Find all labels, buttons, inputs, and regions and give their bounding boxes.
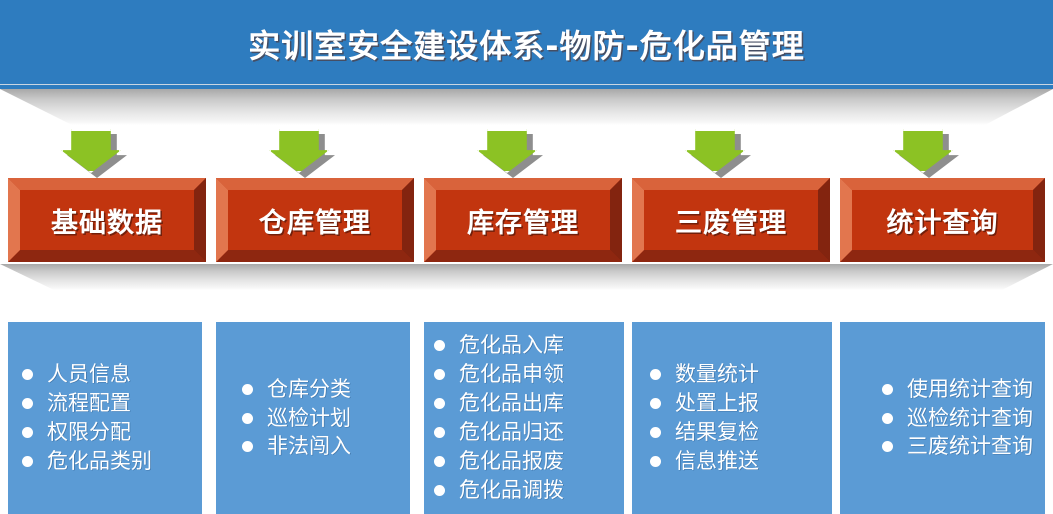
list-item-label: 危化品报废	[459, 447, 564, 476]
feature-list: 人员信息流程配置权限分配危化品类别	[8, 360, 202, 476]
feature-list: 仓库分类巡检计划非法闯入	[216, 375, 410, 462]
list-item[interactable]: 处置上报	[650, 389, 832, 418]
bullet-dot-icon	[434, 340, 445, 351]
feature-panel-4: 数量统计处置上报结果复检信息推送	[632, 322, 832, 514]
down-arrow-icon	[893, 129, 959, 177]
list-item[interactable]: 危化品出库	[434, 389, 624, 418]
list-item[interactable]: 人员信息	[22, 360, 202, 389]
list-item[interactable]: 三废统计查询	[882, 432, 1045, 461]
list-item[interactable]: 危化品归还	[434, 418, 624, 447]
module-box-label: 基础数据	[8, 178, 206, 262]
list-item-label: 危化品申领	[459, 360, 564, 389]
list-item[interactable]: 巡检计划	[242, 404, 410, 433]
page-title: 实训室安全建设体系-物防-危化品管理	[0, 0, 1053, 88]
bullet-dot-icon	[650, 398, 661, 409]
list-item-label: 危化品归还	[459, 418, 564, 447]
bullet-dot-icon	[650, 456, 661, 467]
list-item-label: 危化品类别	[47, 447, 152, 476]
feature-list: 危化品入库危化品申领危化品出库危化品归还危化品报废危化品调拨	[424, 331, 624, 505]
list-item[interactable]: 巡检统计查询	[882, 404, 1045, 433]
list-item-label: 仓库分类	[267, 375, 351, 404]
module-box-3[interactable]: 库存管理	[424, 178, 622, 262]
feature-panel-3: 危化品入库危化品申领危化品出库危化品归还危化品报废危化品调拨	[424, 322, 624, 514]
bullet-dot-icon	[434, 456, 445, 467]
list-item[interactable]: 危化品调拨	[434, 476, 624, 505]
module-box-4[interactable]: 三废管理	[632, 178, 830, 262]
down-arrow-icon	[61, 129, 127, 177]
list-item-label: 结果复检	[675, 418, 759, 447]
list-item-label: 危化品调拨	[459, 476, 564, 505]
title-banner: 实训室安全建设体系-物防-危化品管理	[0, 0, 1053, 88]
list-item-label: 危化品入库	[459, 331, 564, 360]
module-box-2[interactable]: 仓库管理	[216, 178, 414, 262]
list-item-label: 数量统计	[675, 360, 759, 389]
bullet-dot-icon	[434, 427, 445, 438]
list-item-label: 流程配置	[47, 389, 131, 418]
down-arrow-icon	[685, 129, 751, 177]
feature-panel-1: 人员信息流程配置权限分配危化品类别	[8, 322, 202, 514]
bullet-dot-icon	[22, 369, 33, 380]
list-item-label: 处置上报	[675, 389, 759, 418]
list-item[interactable]: 使用统计查询	[882, 375, 1045, 404]
list-item[interactable]: 结果复检	[650, 418, 832, 447]
list-item-label: 信息推送	[675, 447, 759, 476]
module-box-label: 库存管理	[424, 178, 622, 262]
bullet-dot-icon	[434, 398, 445, 409]
bullet-dot-icon	[882, 384, 893, 395]
down-arrow-icon	[269, 129, 335, 177]
list-item[interactable]: 信息推送	[650, 447, 832, 476]
list-item[interactable]: 权限分配	[22, 418, 202, 447]
bullet-dot-icon	[882, 441, 893, 452]
feature-list: 数量统计处置上报结果复检信息推送	[632, 360, 832, 476]
perspective-shadow-top	[0, 89, 1053, 125]
list-item[interactable]: 流程配置	[22, 389, 202, 418]
list-item-label: 三废统计查询	[907, 432, 1033, 461]
bullet-dot-icon	[242, 384, 253, 395]
list-item-label: 权限分配	[47, 418, 131, 447]
list-item-label: 危化品出库	[459, 389, 564, 418]
list-item[interactable]: 非法闯入	[242, 432, 410, 461]
list-item[interactable]: 危化品申领	[434, 360, 624, 389]
list-item[interactable]: 危化品入库	[434, 331, 624, 360]
bullet-dot-icon	[650, 369, 661, 380]
list-item-label: 非法闯入	[267, 432, 351, 461]
list-item[interactable]: 仓库分类	[242, 375, 410, 404]
list-item-label: 使用统计查询	[907, 375, 1033, 404]
list-item[interactable]: 危化品类别	[22, 447, 202, 476]
list-item-label: 巡检统计查询	[907, 404, 1033, 433]
bullet-dot-icon	[22, 427, 33, 438]
bullet-dot-icon	[242, 413, 253, 424]
bullet-dot-icon	[650, 427, 661, 438]
bullet-dot-icon	[22, 398, 33, 409]
feature-panel-5: 使用统计查询巡检统计查询三废统计查询	[840, 322, 1045, 514]
module-box-label: 统计查询	[840, 178, 1045, 262]
feature-panel-2: 仓库分类巡检计划非法闯入	[216, 322, 410, 514]
module-box-label: 三废管理	[632, 178, 830, 262]
list-item-label: 人员信息	[47, 360, 131, 389]
feature-list: 使用统计查询巡检统计查询三废统计查询	[840, 375, 1045, 462]
module-box-5[interactable]: 统计查询	[840, 178, 1045, 262]
module-box-label: 仓库管理	[216, 178, 414, 262]
bullet-dot-icon	[434, 485, 445, 496]
diagram-canvas: 实训室安全建设体系-物防-危化品管理 基础数据仓库管理库存管理三废管理统计查询 …	[0, 0, 1053, 514]
down-arrow-icon	[477, 129, 543, 177]
bullet-dot-icon	[22, 456, 33, 467]
perspective-shadow-middle	[0, 264, 1053, 290]
list-item-label: 巡检计划	[267, 404, 351, 433]
list-item[interactable]: 危化品报废	[434, 447, 624, 476]
bullet-dot-icon	[242, 441, 253, 452]
title-banner-underline	[0, 84, 1053, 89]
module-box-1[interactable]: 基础数据	[8, 178, 206, 262]
bullet-dot-icon	[882, 413, 893, 424]
list-item[interactable]: 数量统计	[650, 360, 832, 389]
bullet-dot-icon	[434, 369, 445, 380]
